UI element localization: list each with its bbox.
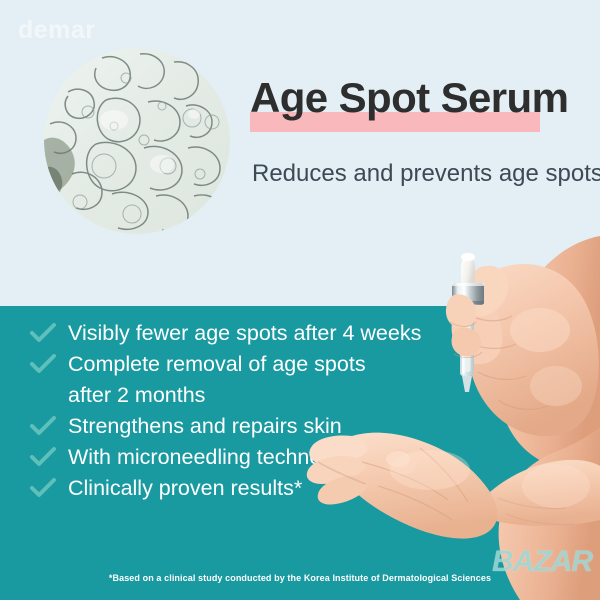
list-item-label: With microneedling technology [68,442,361,472]
check-icon [30,349,68,379]
list-item-label: Visibly fewer age spots after 4 weeks [68,318,421,348]
check-spacer [30,380,68,410]
list-item: Clinically proven results* [30,473,450,503]
serum-macro-circle [44,48,230,234]
page-subtitle: Reduces and prevents age spots [252,160,600,189]
list-item: With microneedling technology [30,442,450,472]
list-item-label: Clinically proven results* [68,473,302,503]
check-icon [30,411,68,441]
list-item-label-line2: after 2 months [68,380,205,410]
watermark-demar: demar [18,18,96,43]
list-item-label: Strengthens and repairs skin [68,411,342,441]
benefits-list: Visibly fewer age spots after 4 weeks Co… [30,318,450,504]
list-item-label: Complete removal of age spots [68,349,366,379]
list-item: Complete removal of age spots [30,349,450,379]
list-item: Visibly fewer age spots after 4 weeks [30,318,450,348]
page-title: Age Spot Serum [250,76,568,120]
check-icon [30,473,68,503]
list-item: Strengthens and repairs skin [30,411,450,441]
list-item-continuation: after 2 months [30,380,450,410]
check-icon [30,318,68,348]
footnote-disclaimer: *Based on a clinical study conducted by … [0,573,600,584]
product-ad-image: demar [0,0,600,600]
check-icon [30,442,68,472]
